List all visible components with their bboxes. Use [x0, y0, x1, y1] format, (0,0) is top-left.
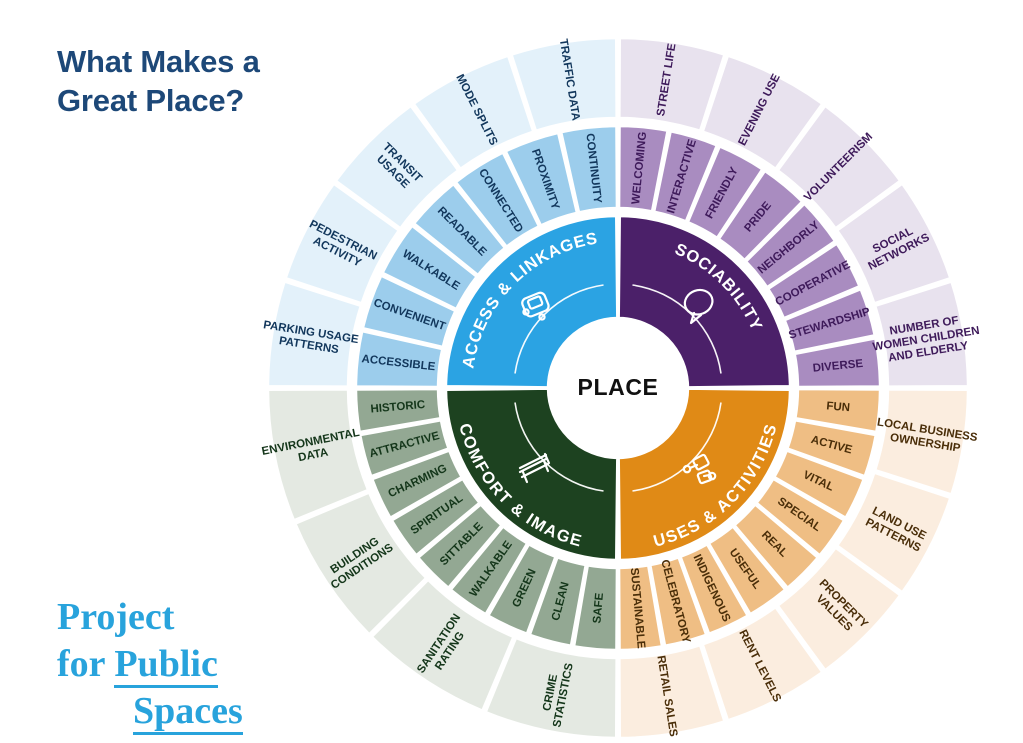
segment-label-uses-activities-mid-0: FUN: [826, 400, 851, 414]
project-for-public-spaces-logo: Project for Public Spaces: [57, 594, 243, 735]
logo-public-text: Public: [114, 645, 217, 688]
logo-spaces-text: Spaces: [133, 692, 243, 735]
logo-for-text: for: [57, 643, 114, 685]
logo-line-1: Project: [57, 594, 243, 641]
center-place-label: PLACE: [578, 374, 659, 400]
